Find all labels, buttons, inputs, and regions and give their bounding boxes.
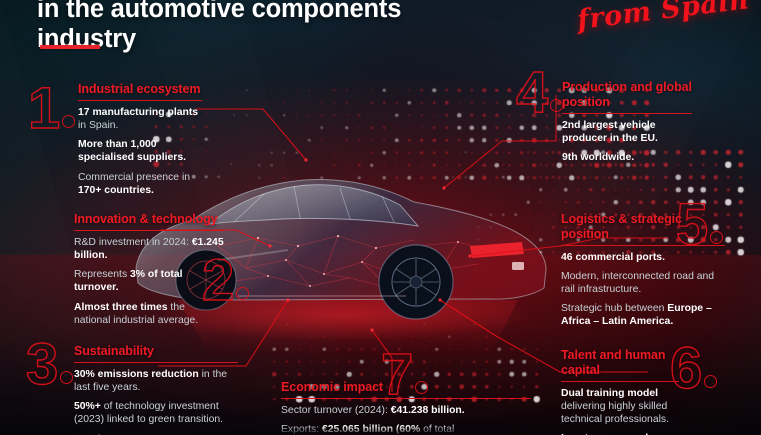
block-2-body: R&D investment in 2024: €1.245 billion.R… <box>74 236 224 327</box>
block-1-body: 17 manufacturing plants in Spain.More th… <box>78 106 202 197</box>
block-5-body: 46 commercial ports.Modern, interconnect… <box>561 251 725 329</box>
block-7-heading: Economic impact <box>281 380 531 395</box>
block-5-rule <box>561 245 725 246</box>
block-1-rule <box>78 100 202 101</box>
numeral-4: 4 <box>516 64 563 122</box>
block-4-rule <box>562 113 692 114</box>
stat-line: 30% emissions reduction in the last five… <box>74 368 238 394</box>
block-2-rule <box>74 230 224 231</box>
block-3-body: 30% emissions reduction in the last five… <box>74 368 238 435</box>
numeral-3: 3 <box>26 336 73 394</box>
block-production-global-position[interactable]: Production and global position 2nd large… <box>562 80 692 164</box>
block-industrial-ecosystem[interactable]: Industrial ecosystem 17 manufacturing pl… <box>78 82 202 197</box>
stat-line: 50%+ of technology investment (2023) lin… <box>74 400 238 426</box>
block-3-rule <box>74 362 238 363</box>
block-7-body: Sector turnover (2024): €41.238 billion.… <box>281 404 531 435</box>
numeral-period-icon <box>60 371 73 384</box>
numeral-1-digit: 1 <box>28 76 60 141</box>
block-7-rule <box>281 398 531 399</box>
stat-line: R&D investment in 2024: €1.245 billion. <box>74 236 224 262</box>
infographic-content: in the automotive components industry fr… <box>0 0 761 435</box>
block-innovation-technology[interactable]: Innovation & technology R&D investment i… <box>74 212 224 327</box>
page-title: in the automotive components industry <box>37 0 507 54</box>
block-4-body: 2nd largest vehicle producer in the EU.9… <box>562 119 692 164</box>
block-logistics-strategic-position[interactable]: Logistics & strategic position 46 commer… <box>561 212 725 328</box>
block-6-rule <box>561 381 679 382</box>
block-6-heading: Talent and human capital <box>561 348 679 378</box>
stat-line: Sector turnover (2024): €41.238 billion. <box>281 404 531 417</box>
numeral-period-icon <box>704 375 717 388</box>
stat-line: Almost three times the national industri… <box>74 301 224 327</box>
block-4-heading: Production and global position <box>562 80 692 110</box>
stat-line: Commercial presence in 170+ countries. <box>78 171 202 197</box>
stat-line: 9th worldwide. <box>562 151 692 164</box>
stat-line: Strategic hub between Europe – Africa – … <box>561 302 725 328</box>
block-sustainability[interactable]: Sustainability 30% emissions reduction i… <box>74 344 238 435</box>
block-6-body: Dual training model delivering highly sk… <box>561 387 679 435</box>
stat-line: 17 manufacturing plants in Spain. <box>78 106 202 132</box>
stat-line: 46 commercial ports. <box>561 251 725 264</box>
stat-line: Exports: €25.065 billion (60% of total <box>281 423 531 435</box>
block-1-heading: Industrial ecosystem <box>78 82 202 97</box>
numeral-4-digit: 4 <box>516 60 548 125</box>
block-2-heading: Innovation & technology <box>74 212 224 227</box>
block-economic-impact[interactable]: Economic impact Sector turnover (2024): … <box>281 380 531 435</box>
stat-line: Represents 3% of total turnover. <box>74 268 224 294</box>
stat-line: More than 1,000 specialised suppliers. <box>78 138 202 164</box>
numeral-period-icon <box>236 287 249 300</box>
numeral-period-icon <box>62 115 75 128</box>
block-talent-human-capital[interactable]: Talent and human capital Dual training m… <box>561 348 679 435</box>
stat-line: Dual training model delivering highly sk… <box>561 387 679 426</box>
stat-line: Modern, interconnected road and rail inf… <box>561 270 725 296</box>
block-3-heading: Sustainability <box>74 344 238 359</box>
block-5-heading: Logistics & strategic position <box>561 212 725 242</box>
numeral-1: 1 <box>28 80 75 138</box>
stat-line: 2nd largest vehicle producer in the EU. <box>562 119 692 145</box>
numeral-3-digit: 3 <box>26 332 58 397</box>
title-underline <box>40 45 100 49</box>
from-spain-script: from Spain <box>576 0 751 36</box>
